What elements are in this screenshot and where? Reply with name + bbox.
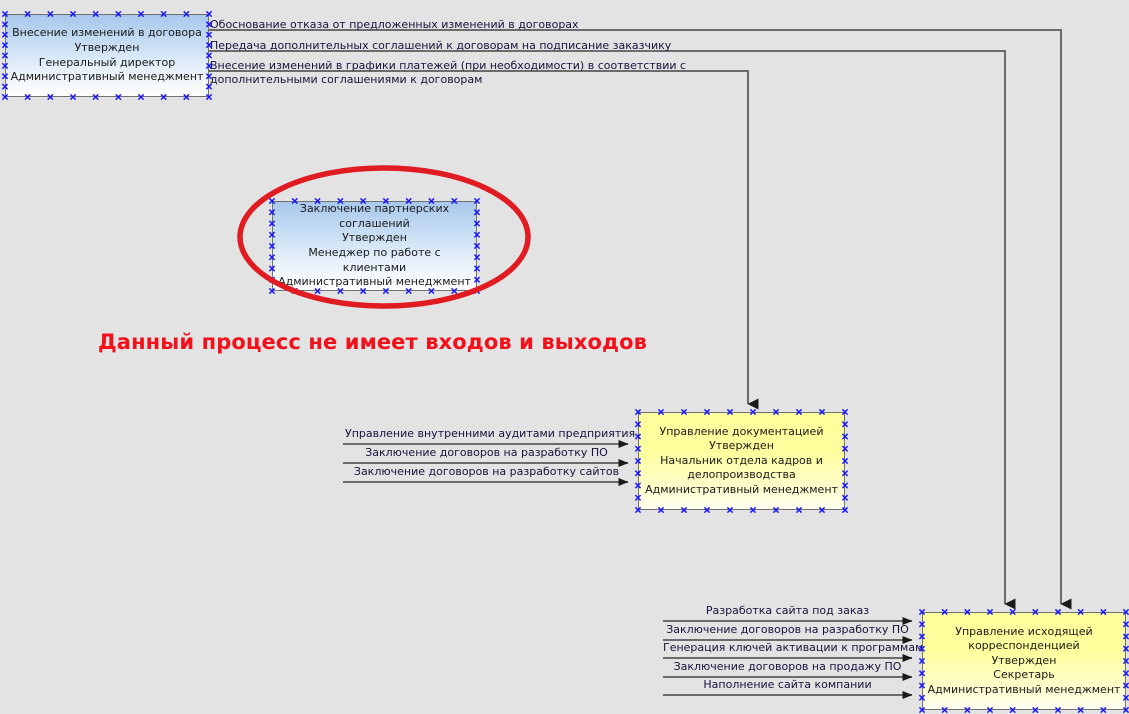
annotation-no-inputs-outputs: Данный процесс не имеет входов и выходов [98, 330, 647, 354]
highlight-layer [0, 0, 1129, 714]
diagram-canvas[interactable]: Обоснование отказа от предложенных измен… [0, 0, 1129, 714]
highlight-ellipse [240, 168, 528, 306]
